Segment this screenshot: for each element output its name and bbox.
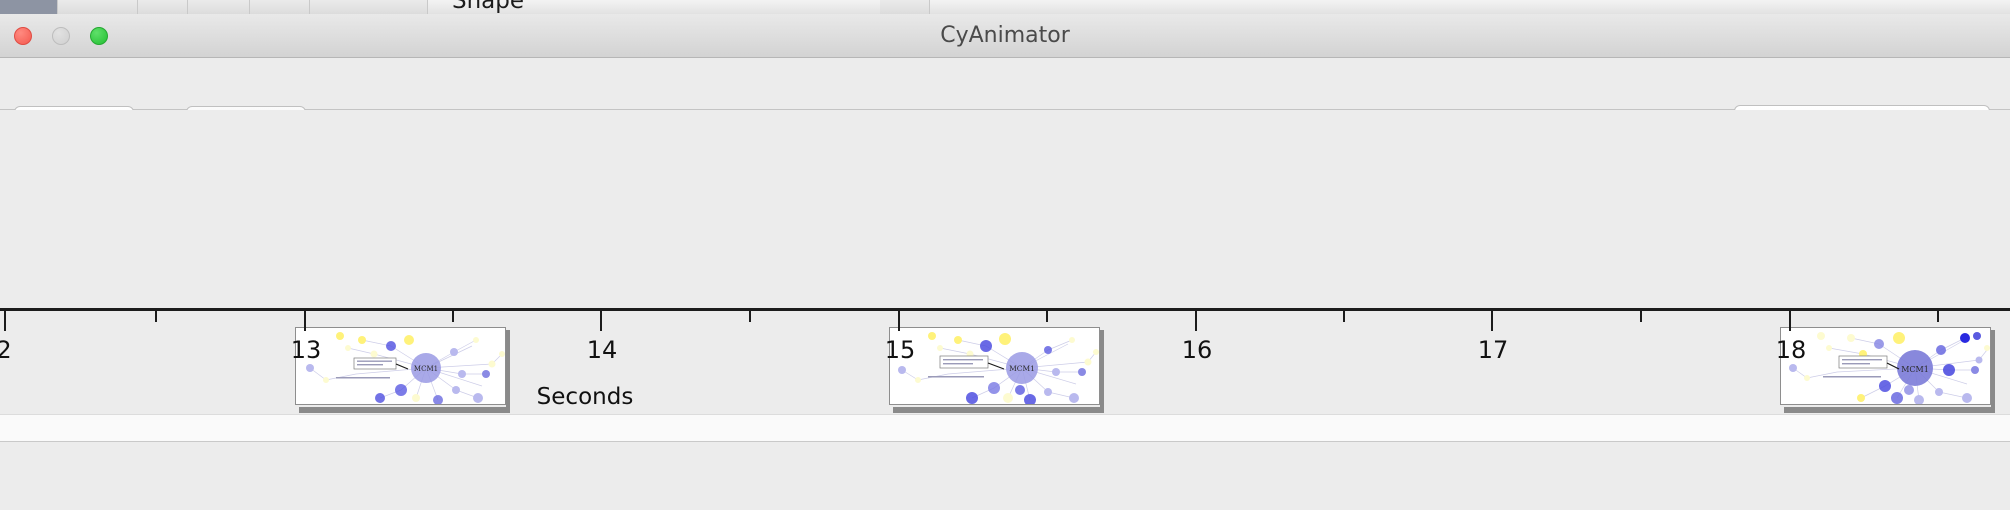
axis-tick-label: 13 [281, 336, 331, 364]
background-window-strip: Shape [0, 0, 2010, 14]
timeline-track[interactable]: MCM1 [0, 110, 2010, 310]
toolbar: + Clear All Frames [0, 58, 2010, 110]
background-tab [188, 0, 250, 14]
axis-minor-tick [1640, 311, 1642, 322]
axis-tick-label: 2 [0, 336, 24, 364]
horizontal-scrollbar[interactable] [0, 414, 2010, 442]
svg-text:MCM1: MCM1 [414, 365, 438, 373]
window-title: CyAnimator [0, 14, 2010, 58]
background-tab-selected [0, 0, 58, 14]
axis-minor-tick [155, 311, 157, 322]
axis-major-tick [1789, 311, 1791, 331]
axis-tick-label: 15 [875, 336, 925, 364]
axis-major-tick [1491, 311, 1493, 331]
background-tab [138, 0, 188, 14]
titlebar: CyAnimator [0, 14, 2010, 58]
svg-text:MCM1: MCM1 [1009, 364, 1035, 373]
cyanimator-window: Shape CyAnimator + Clear All Frames [0, 0, 2010, 510]
axis-tick-label: 17 [1468, 336, 1518, 364]
axis-tick-label: 18 [1766, 336, 1816, 364]
background-tab [310, 0, 428, 14]
background-tab [880, 0, 930, 14]
axis-major-tick [1195, 311, 1197, 331]
background-window-partial-label: Shape [452, 0, 572, 14]
background-tab [58, 0, 138, 14]
playback-controls: Animation Speed: [0, 442, 2010, 510]
axis-title: Seconds [0, 384, 2010, 410]
axis-minor-tick [749, 311, 751, 322]
axis-minor-tick [452, 311, 454, 322]
svg-text:MCM1: MCM1 [1901, 365, 1929, 374]
axis-major-tick [600, 311, 602, 331]
background-tab [250, 0, 310, 14]
axis-major-tick [4, 311, 6, 331]
axis-major-tick [898, 311, 900, 331]
axis-tick-label: 14 [577, 336, 627, 364]
axis-tick-label: 16 [1172, 336, 1222, 364]
axis-minor-tick [1343, 311, 1345, 322]
timeline-axis-line [0, 308, 2010, 311]
axis-minor-tick [1937, 311, 1939, 322]
axis-minor-tick [1046, 311, 1048, 322]
axis-major-tick [304, 311, 306, 331]
